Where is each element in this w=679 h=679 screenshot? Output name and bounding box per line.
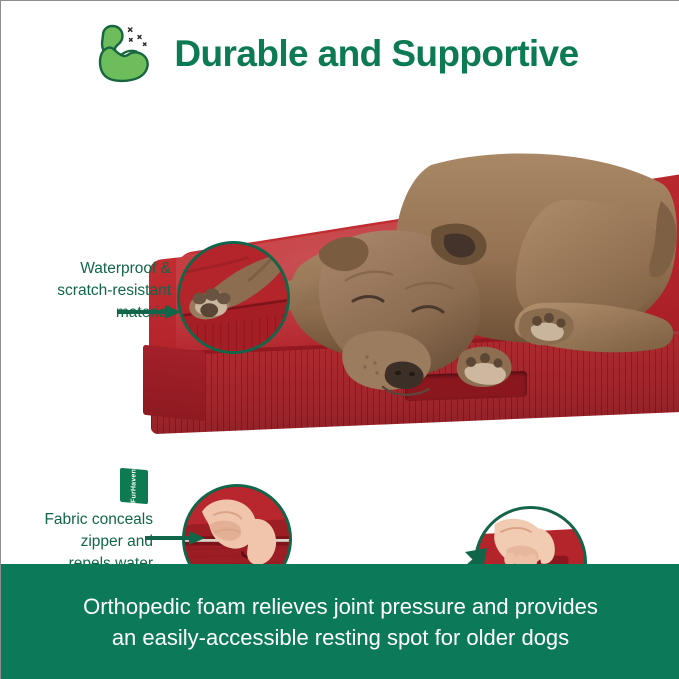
product-photo-stage: FurHaven [1,105,679,564]
arrow-right-icon [117,302,183,322]
header: Durable and Supportive [1,1,679,105]
callout-line: repels water [5,553,153,564]
callout-line: Waterproof & [11,258,171,280]
arrow-up-right-icon [433,546,491,564]
callout-label-fabric-zipper: Fabric conceals zipper and repels water [5,509,153,564]
arrow-right-icon [145,528,207,548]
callout-circle-paw[interactable] [177,241,290,354]
flexed-bicep-icon [94,22,158,84]
page-title: Durable and Supportive [174,35,578,72]
footer-banner-line2: an easily-accessible resting spot for ol… [21,622,661,653]
callout-line: scratch-resistant [11,280,171,302]
infographic-page: Durable and Supportive FurHaven [0,0,679,679]
header-inner: Durable and Supportive [94,22,578,84]
dog-photo [1,105,679,564]
callout-line: Fabric conceals [5,509,153,531]
callout-line: zipper and [5,531,153,553]
footer-banner-line1: Orthopedic foam relieves joint pressure … [83,594,598,619]
footer-banner-text: Orthopedic foam relieves joint pressure … [21,591,661,653]
footer-banner: Orthopedic foam relieves joint pressure … [1,564,679,679]
